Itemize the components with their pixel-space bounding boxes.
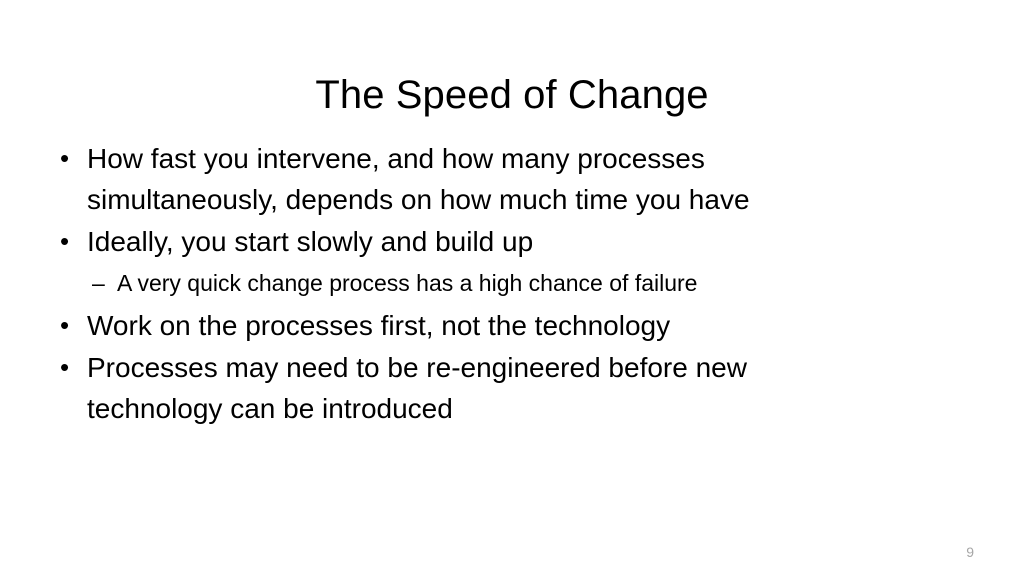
- bullet-marker-icon: •: [56, 138, 87, 179]
- slide-body-content: • How fast you intervene, and how many p…: [56, 138, 956, 430]
- bullet-marker-icon: •: [56, 305, 87, 346]
- list-item-label: How fast you intervene, and how many pro…: [87, 138, 859, 220]
- list-item: • Ideally, you start slowly and build up: [56, 221, 956, 262]
- bullet-marker-icon: •: [56, 347, 87, 388]
- page-number: 9: [966, 543, 974, 561]
- list-item-label: Work on the processes first, not the tec…: [87, 305, 859, 346]
- sub-list-item-label: A very quick change process has a high c…: [117, 265, 956, 301]
- bullet-marker-icon: •: [56, 221, 87, 262]
- list-item: • Processes may need to be re-engineered…: [56, 347, 956, 429]
- dash-marker-icon: –: [92, 265, 117, 301]
- list-item: • How fast you intervene, and how many p…: [56, 138, 956, 220]
- list-item-label: Ideally, you start slowly and build up: [87, 221, 859, 262]
- slide-canvas: The Speed of Change • How fast you inter…: [0, 0, 1024, 576]
- list-item: • Work on the processes first, not the t…: [56, 305, 956, 346]
- page-title: The Speed of Change: [72, 71, 952, 119]
- list-item-label: Processes may need to be re-engineered b…: [87, 347, 859, 429]
- sub-list-item: – A very quick change process has a high…: [56, 265, 956, 301]
